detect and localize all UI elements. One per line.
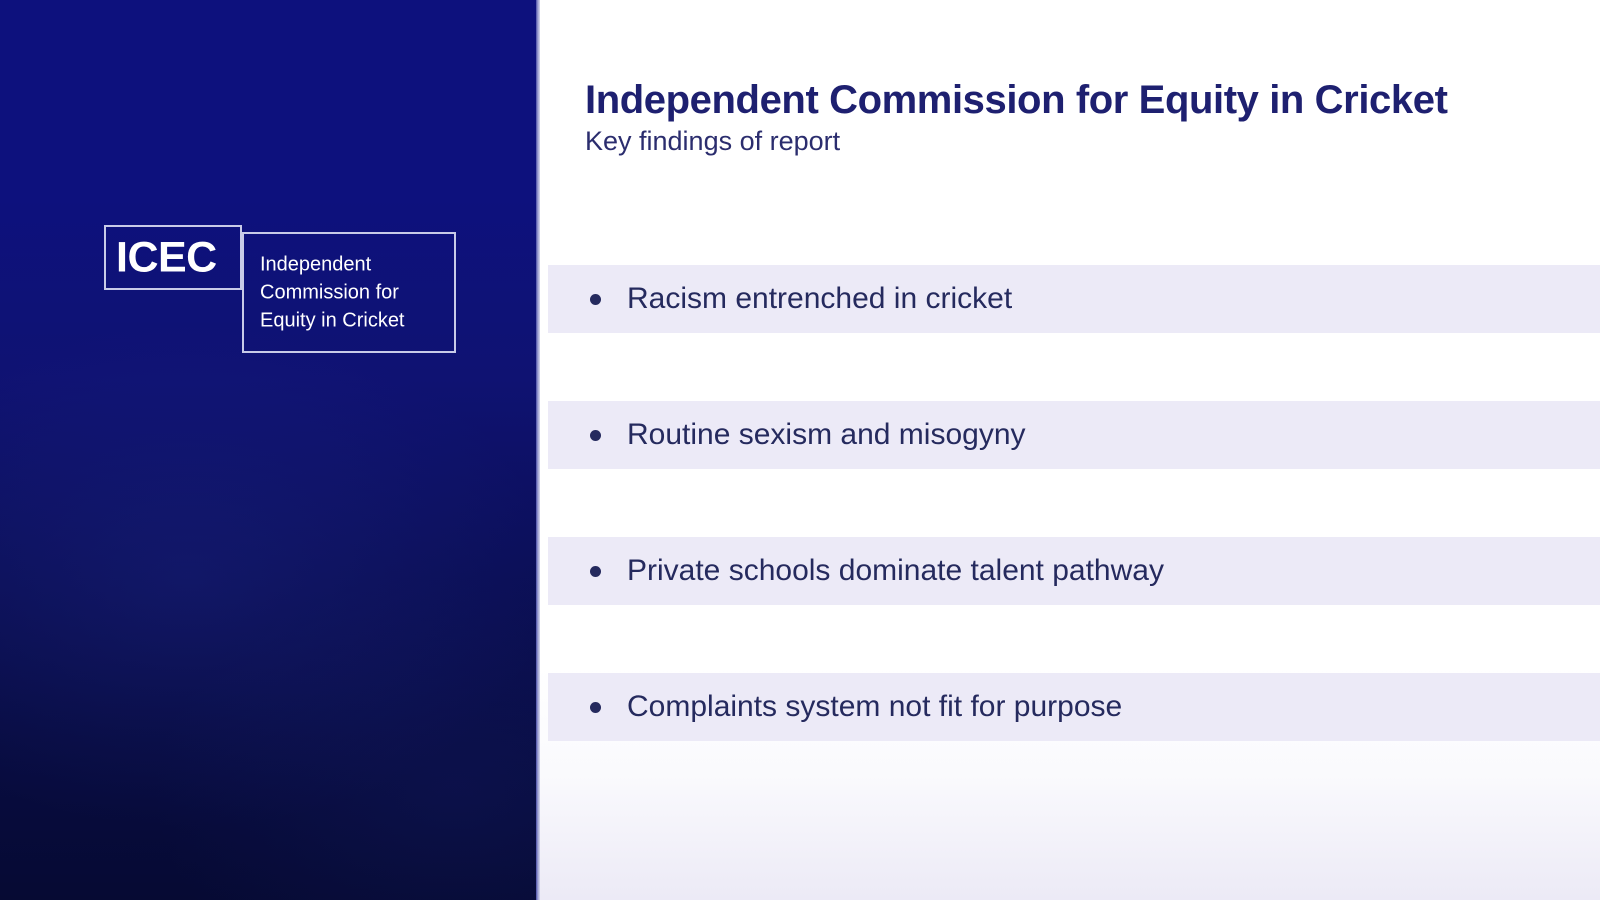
slide-root: Independent Commission for Equity in Cri…	[0, 0, 1600, 900]
list-item-label: Routine sexism and misogyny	[627, 417, 1026, 453]
bullet-dot-icon	[590, 430, 601, 441]
list-item: Routine sexism and misogyny	[548, 401, 1600, 469]
bullet-dot-icon	[590, 702, 601, 713]
list-item-label: Private schools dominate talent pathway	[627, 553, 1164, 589]
brand-panel	[0, 0, 536, 900]
page-subtitle: Key findings of report	[585, 126, 1585, 157]
heading-block: Independent Commission for Equity in Cri…	[585, 78, 1585, 157]
list-item-label: Racism entrenched in cricket	[627, 281, 1012, 317]
logo-name-box: Independent Commission for Equity in Cri…	[242, 232, 456, 353]
list-item: Racism entrenched in cricket	[548, 265, 1600, 333]
panel-sheen-overlay	[0, 0, 536, 900]
list-item: Complaints system not fit for purpose	[548, 673, 1600, 741]
page-title: Independent Commission for Equity in Cri…	[585, 78, 1585, 122]
bullet-dot-icon	[590, 294, 601, 305]
logo-mark-box: ICEC	[104, 225, 242, 290]
logo-name-text: Independent Commission for Equity in Cri…	[260, 250, 405, 335]
icec-logo: Independent Commission for Equity in Cri…	[104, 225, 460, 355]
bullet-dot-icon	[590, 566, 601, 577]
key-findings-list: Racism entrenched in cricket Routine sex…	[548, 265, 1600, 809]
logo-mark-text: ICEC	[116, 236, 217, 279]
content-panel: Independent Commission for Equity in Cri…	[540, 0, 1600, 900]
list-item: Private schools dominate talent pathway	[548, 537, 1600, 605]
list-item-label: Complaints system not fit for purpose	[627, 689, 1122, 725]
